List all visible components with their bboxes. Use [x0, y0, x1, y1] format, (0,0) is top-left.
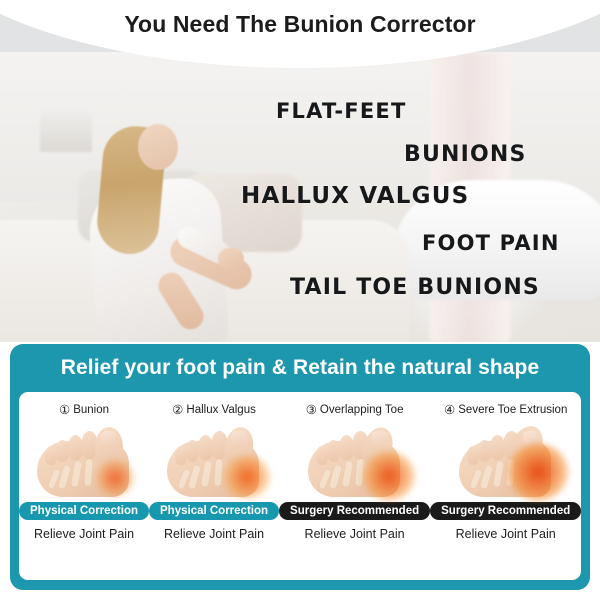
status-badge: Surgery Recommended — [430, 502, 581, 520]
pain-highlight — [362, 451, 416, 501]
pain-highlight — [95, 459, 135, 497]
status-badge: Physical Correction — [149, 502, 279, 520]
bone — [214, 458, 223, 485]
circled-number-icon: ③ — [306, 404, 317, 417]
bone — [480, 464, 493, 489]
condition-label-tail-toe-bunions: TAIL TOE BUNIONS — [290, 275, 540, 300]
column-header: ③ Overlapping Toe — [306, 404, 404, 417]
condition-label-foot-pain: FOOT PAIN — [422, 231, 560, 255]
benefits-panel: Relief your foot pain & Retain the natur… — [10, 344, 590, 590]
condition-column-2: ② Hallux Valgus — [149, 392, 279, 580]
circled-number-icon: ② — [172, 404, 183, 417]
foot-illustration — [292, 421, 418, 499]
column-caption: Relieve Joint Pain — [34, 527, 134, 541]
pain-highlight — [223, 455, 271, 499]
circled-number-icon: ④ — [444, 404, 455, 417]
column-header: ④ Severe Toe Extrusion — [444, 404, 567, 417]
bone — [341, 460, 352, 487]
condition-column-4: ④ Severe Toe Extrusion — [430, 392, 581, 580]
column-title: Overlapping Toe — [320, 404, 404, 416]
status-badge: Surgery Recommended — [279, 502, 430, 520]
column-caption: Relieve Joint Pain — [164, 527, 264, 541]
bone — [492, 460, 503, 487]
bone — [84, 458, 93, 485]
conditions-grid: ① Bunion — [19, 392, 581, 580]
column-title: Hallux Valgus — [186, 404, 255, 416]
pain-highlight — [507, 443, 569, 501]
hero-section: You Need The Bunion Corrector FLAT-FEET … — [0, 0, 600, 342]
condition-column-3: ③ Overlapping Toe — [279, 392, 430, 580]
condition-label-bunions: BUNIONS — [404, 142, 527, 167]
condition-label-hallux-valgus: HALLUX VALGUS — [241, 183, 469, 209]
condition-label-flat-feet: FLAT-FEET — [276, 99, 406, 123]
benefits-banner: Relief your foot pain & Retain the natur… — [10, 344, 590, 392]
column-caption: Relieve Joint Pain — [305, 527, 405, 541]
column-title: Severe Toe Extrusion — [458, 404, 567, 416]
foot-illustration — [443, 421, 569, 499]
condition-column-1: ① Bunion — [19, 392, 149, 580]
banner-headline: Relief your foot pain & Retain the natur… — [61, 356, 540, 380]
column-header: ① Bunion — [59, 404, 109, 417]
bone — [328, 464, 341, 489]
product-infographic: You Need The Bunion Corrector FLAT-FEET … — [0, 0, 600, 600]
foot-illustration — [151, 421, 277, 499]
woman-head — [138, 124, 178, 170]
bone — [188, 464, 201, 489]
lamp — [40, 110, 92, 152]
bone — [71, 460, 82, 487]
woman-hand — [218, 248, 244, 270]
conditions-card: ① Bunion — [19, 392, 581, 580]
bone — [58, 464, 71, 489]
foot-illustration — [21, 421, 147, 499]
column-header: ② Hallux Valgus — [172, 404, 256, 417]
circled-number-icon: ① — [59, 404, 70, 417]
page-title: You Need The Bunion Corrector — [0, 11, 600, 38]
status-badge: Physical Correction — [19, 502, 149, 520]
column-caption: Relieve Joint Pain — [456, 527, 556, 541]
bone — [201, 460, 212, 487]
column-title: Bunion — [73, 404, 109, 416]
